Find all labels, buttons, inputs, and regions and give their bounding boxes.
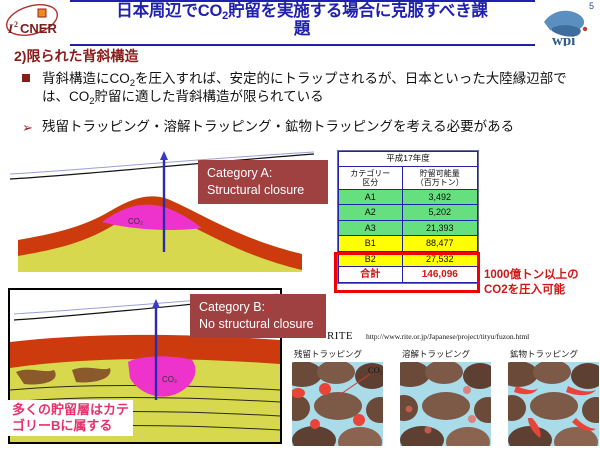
table-header-row: カテゴリー 区分 貯留可能量 （百万トン） [339, 166, 478, 189]
total-label: 合計 [339, 266, 403, 283]
trapping-diagram-solubility [400, 362, 491, 446]
co2-label-a: CO₂ [128, 217, 143, 226]
total-value: 146,096 [402, 266, 477, 283]
page-title: 日本周辺でCO2貯留を実施する場合に克服すべき課 題 [72, 2, 532, 39]
trapping-diagram-mineral [508, 362, 599, 446]
page-title-sub: 2 [222, 10, 228, 22]
i2cner-logo: I 2 CNER [2, 3, 72, 41]
svg-text:I: I [7, 21, 14, 36]
trapping-label-residual: 残留トラッピング [294, 348, 362, 360]
capacity-annotation: 1000億トン以上の CO2を圧入可能 [484, 268, 579, 297]
bullet-1-a: 背斜構造にCO [42, 71, 130, 86]
category-a-line2: Structural closure [207, 182, 319, 199]
cell-value: 88,477 [402, 236, 477, 251]
pink-note-line2: ゴリーBに属する [12, 418, 129, 434]
source-name: RITE [327, 330, 353, 342]
capacity-table: 平成17年度 カテゴリー 区分 貯留可能量 （百万トン） A13,492 A25… [337, 150, 479, 284]
category-a-label: Category A: Structural closure [198, 160, 328, 204]
page-title-line1-b: 貯留を実施する場合に克服すべき課 [228, 2, 488, 20]
bullet-1-c: 貯留に適した背斜構造が限られている [95, 89, 324, 104]
table-row: B188,477 [339, 236, 478, 251]
pink-note: 多くの貯留層はカテ ゴリーBに属する [8, 400, 133, 436]
square-bullet-icon [22, 74, 30, 82]
category-b-label: Category B: No structural closure [190, 294, 326, 338]
wpi-logo: wpi [538, 4, 596, 46]
cell-category: B1 [339, 236, 403, 251]
table-row: A13,492 [339, 190, 478, 205]
capacity-annotation-line1: 1000億トン以上の [484, 268, 579, 283]
cell-value: 21,393 [402, 220, 477, 235]
table-caption-row: 平成17年度 [339, 152, 478, 167]
page-title-line2: 題 [72, 20, 532, 38]
cell-category: B2 [339, 251, 403, 266]
cell-value: 27,532 [402, 251, 477, 266]
trapping-label-mineral: 鉱物トラッピング [510, 348, 578, 360]
co2-leader-line [336, 372, 372, 398]
table-row: A321,393 [339, 220, 478, 235]
bullet-1-sub-2: 2 [89, 96, 94, 107]
cell-category: A3 [339, 220, 403, 235]
category-b-line1: Category B: [199, 299, 317, 316]
category-a-line1: Category A: [207, 165, 319, 182]
cell-value: 5,202 [402, 205, 477, 220]
bullet-1-text: 背斜構造にCO2を圧入すれば、安定的にトラップされるが、日本といった大陸縁辺部で… [42, 70, 582, 106]
slide: I 2 CNER 日本周辺でCO2貯留を実施する場合に克服すべき課 題 5 wp… [0, 0, 600, 450]
cell-category: A1 [339, 190, 403, 205]
header-cat-l2: 区分 [340, 178, 401, 187]
svg-text:CNER: CNER [20, 21, 57, 36]
table-total-row: 合計146,096 [339, 266, 478, 283]
table-caption: 平成17年度 [339, 152, 478, 167]
header-cap-l2: （百万トン） [404, 178, 476, 187]
arrow-bullet-icon: ➢ [22, 119, 33, 137]
page-title-line1-a: 日本周辺でCO [116, 2, 222, 20]
capacity-annotation-line2: CO2を圧入可能 [484, 283, 579, 298]
source-url[interactable]: http://www.rite.or.jp/Japanese/project/t… [366, 332, 529, 341]
bullet-item-2: ➢ 残留トラッピング・溶解トラッピング・鉱物トラッピングを考える必要がある [22, 118, 582, 136]
trapping-label-solubility: 溶解トラッピング [402, 348, 470, 360]
pink-note-line1: 多くの貯留層はカテ [12, 402, 129, 418]
cell-category: A2 [339, 205, 403, 220]
table-header-category: カテゴリー 区分 [339, 166, 403, 189]
header-cap-l1: 貯留可能量 [404, 169, 476, 178]
section-heading: 2)限られた背斜構造 [14, 46, 138, 66]
bullet-item-1: 背斜構造にCO2を圧入すれば、安定的にトラップされるが、日本といった大陸縁辺部で… [22, 70, 582, 106]
svg-text:wpi: wpi [552, 33, 575, 46]
cell-value: 3,492 [402, 190, 477, 205]
category-b-line2: No structural closure [199, 316, 317, 333]
table-row: A25,202 [339, 205, 478, 220]
co2-label-b: CO₂ [162, 375, 177, 384]
header-cat-l1: カテゴリー [340, 169, 401, 178]
table-row: B227,532 [339, 251, 478, 266]
bullet-1-sub-1: 2 [130, 78, 135, 89]
bullet-2-text: 残留トラッピング・溶解トラッピング・鉱物トラッピングを考える必要がある [42, 118, 582, 136]
table-header-capacity: 貯留可能量 （百万トン） [402, 166, 477, 189]
svg-text:2: 2 [14, 20, 18, 29]
trapping-panels: 残留トラッピング 溶解トラッピング 鉱物トラッピング [292, 348, 598, 448]
